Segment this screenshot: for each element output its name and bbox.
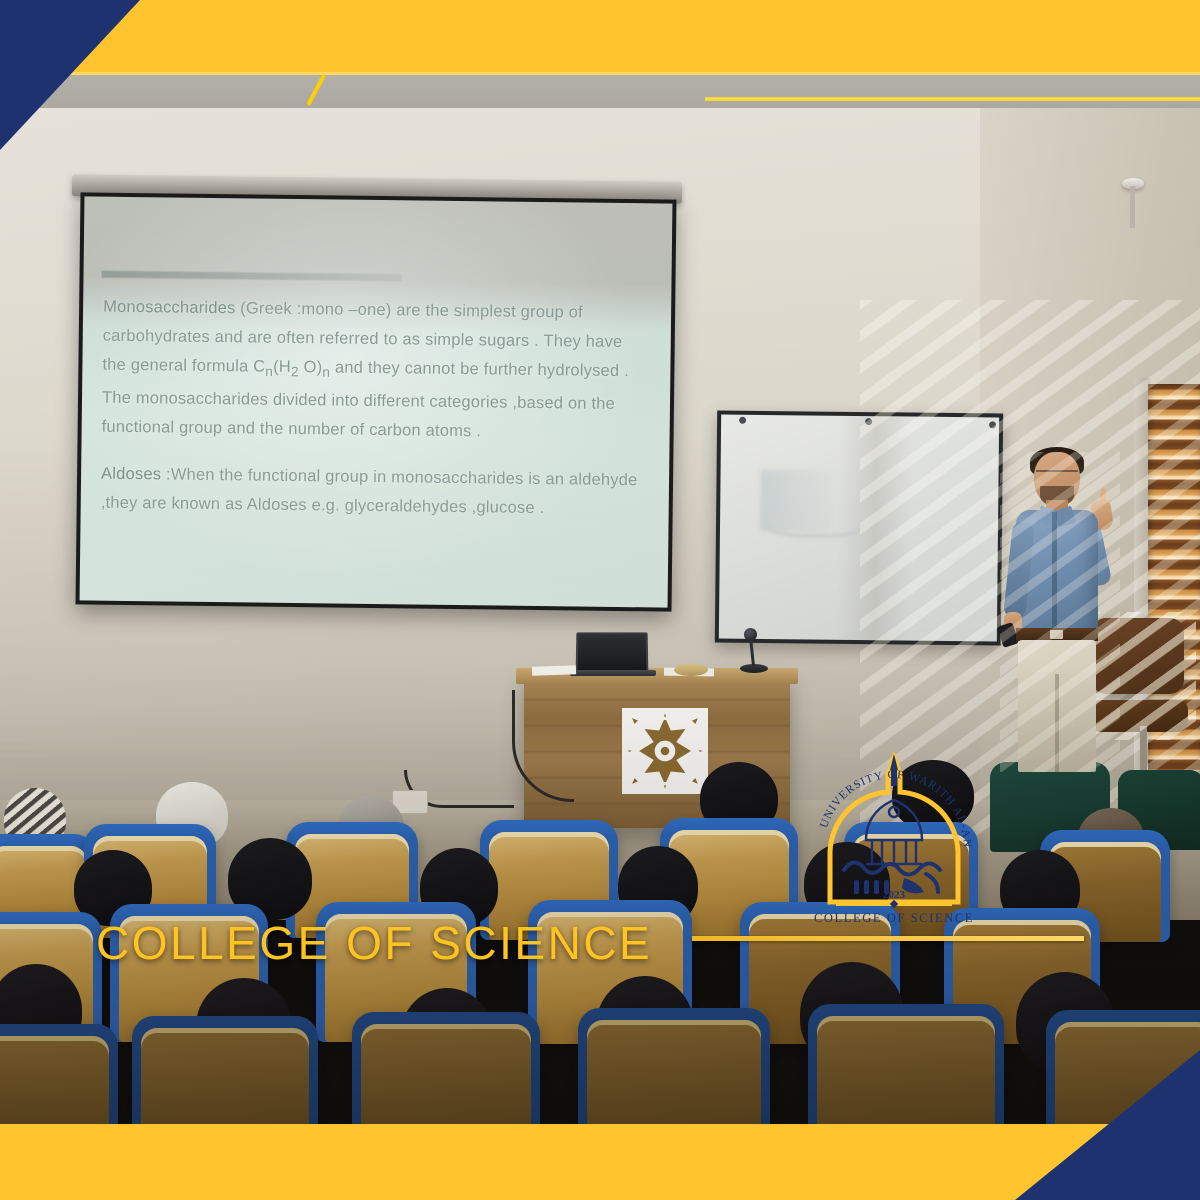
microphone-icon	[744, 628, 757, 641]
belt-buckle	[1050, 630, 1063, 639]
shirt-placket	[1052, 512, 1057, 630]
screen-light-wash	[80, 196, 673, 607]
glasses-icon	[1036, 470, 1078, 478]
university-logo: UNIVERSITY OF WARITH AL-ANBIYAA 2023	[808, 752, 980, 928]
top-left-blue-corner	[0, 0, 140, 150]
logo-subtitle: COLLEGE OF SCIENCE	[814, 911, 974, 925]
title-underline-rule	[692, 936, 1084, 941]
bottom-right-blue-corner	[1015, 1050, 1200, 1200]
detector-stem	[1130, 186, 1135, 228]
whiteboard-mount-left	[739, 417, 746, 424]
laptop-base	[570, 670, 656, 676]
paper-sheet-left	[532, 665, 576, 676]
logo-year: 2023	[883, 889, 906, 901]
lecturer	[1000, 452, 1120, 772]
page-title: COLLEGE OF SCIENCE	[96, 916, 652, 970]
projection-screen: Monosaccharides (Greek :mono –one) are t…	[80, 196, 673, 607]
promo-card: Monosaccharides (Greek :mono –one) are t…	[0, 0, 1200, 1200]
top-yellow-bar	[0, 0, 1200, 72]
top-bar-hairline	[0, 72, 1200, 75]
projection-screen-frame: Monosaccharides (Greek :mono –one) are t…	[76, 192, 677, 611]
horizontal-accent-line	[705, 97, 1200, 101]
lecture-hall-photo: Monosaccharides (Greek :mono –one) are t…	[0, 0, 1200, 1200]
podium-tray	[674, 664, 708, 676]
laptop-screen	[576, 632, 649, 672]
